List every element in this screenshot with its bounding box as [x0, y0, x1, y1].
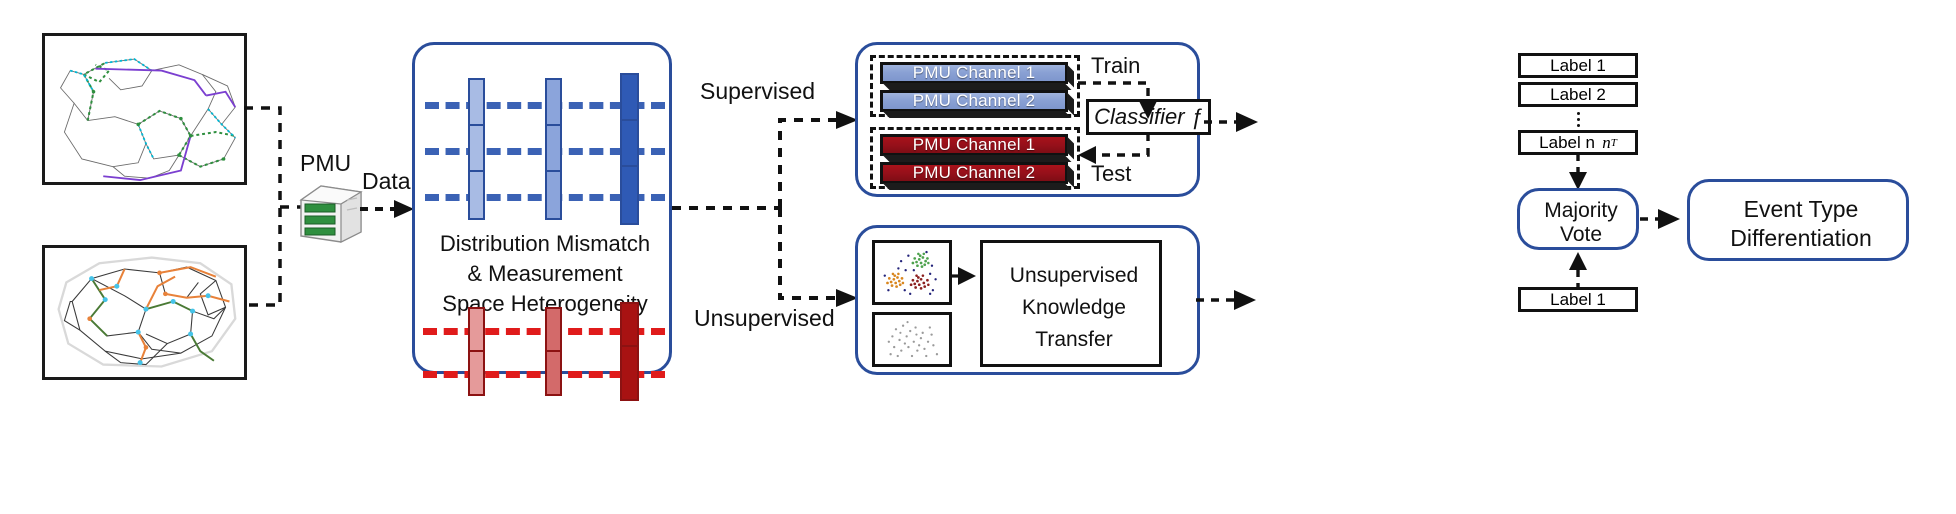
mismatch-tick: [545, 350, 562, 396]
majority-vote-line-1: Majority: [1520, 198, 1642, 224]
pmu-label: PMU: [300, 150, 351, 177]
mismatch-tick: [468, 170, 485, 220]
mismatch-tick: [468, 78, 485, 128]
label-box-1: Label 1: [1518, 53, 1638, 78]
ukt-line-2: Knowledge: [983, 295, 1165, 321]
mismatch-tick: [620, 165, 639, 225]
label-ellipsis: [1518, 110, 1638, 128]
pmu-to-mismatch-arrow: [360, 197, 420, 221]
figure-canvas: PMU Data Distrib: [0, 0, 1956, 514]
majority-vote-box: Majority Vote: [1517, 188, 1639, 250]
pmu-device-icon: [295, 178, 367, 246]
event-type-line-2: Differentiation: [1690, 224, 1912, 253]
unclustered-scatter-plot: [872, 312, 952, 367]
label-n-superscript: T: [1611, 137, 1617, 149]
event-type-differentiation-box: Event Type Differentiation: [1687, 179, 1909, 261]
data-arrow-label: Data: [362, 168, 411, 195]
supervised-branch-label: Supervised: [700, 78, 815, 105]
event-type-line-1: Event Type: [1690, 195, 1912, 224]
mismatch-text-line-2: & Measurement: [415, 260, 675, 288]
mismatch-tick: [545, 78, 562, 128]
power-grid-network-topology-2: [42, 245, 247, 380]
mismatch-tick: [545, 170, 562, 220]
distribution-mismatch-box: Distribution Mismatch & Measurement Spac…: [412, 42, 672, 374]
train-pmu-channel-2[interactable]: PMU Channel 2: [880, 90, 1068, 112]
ukt-line-1: Unsupervised: [983, 263, 1165, 289]
train-pmu-channel-1[interactable]: PMU Channel 1: [880, 62, 1068, 84]
classifier-to-labels-arrow: [1204, 110, 1304, 134]
test-pmu-channel-1[interactable]: PMU Channel 1: [880, 134, 1068, 156]
classifier-box[interactable]: Classifier ƒ: [1086, 99, 1211, 135]
mismatch-branch-connector: [672, 100, 872, 320]
mismatch-tick: [545, 124, 562, 174]
unsupervised-to-label-arrow: [1196, 288, 1306, 312]
mismatch-tick: [545, 307, 562, 353]
mismatch-tick: [468, 124, 485, 174]
ukt-line-3: Transfer: [983, 327, 1165, 353]
unsup-label-to-majority-vote-arrow: [1566, 246, 1590, 290]
mismatch-tick: [468, 350, 485, 396]
test-label: Test: [1091, 161, 1131, 187]
label-box-2: Label 2: [1518, 82, 1638, 107]
scatter-to-transfer-arrow: [952, 264, 982, 288]
test-pmu-channel-2[interactable]: PMU Channel 2: [880, 162, 1068, 184]
clustered-scatter-plot: [872, 240, 952, 305]
label-n-text: Label n: [1539, 133, 1595, 153]
unsupervised-box: Unsupervised Knowledge Transfer: [855, 225, 1200, 375]
mismatch-tick: [620, 345, 639, 401]
mismatch-text-line-1: Distribution Mismatch: [415, 230, 675, 258]
mismatch-tick: [468, 307, 485, 353]
label-box-n: Label n nT: [1518, 130, 1638, 155]
power-grid-network-topology-1: [42, 33, 247, 185]
unsupervised-branch-label: Unsupervised: [694, 305, 835, 332]
supervised-box: PMU Channel 1 PMU Channel 2 PMU Channel …: [855, 42, 1200, 197]
train-label: Train: [1091, 53, 1140, 79]
unsupervised-knowledge-transfer-box: Unsupervised Knowledge Transfer: [980, 240, 1162, 367]
unsupervised-label-box: Label 1: [1518, 287, 1638, 312]
majority-vote-line-2: Vote: [1520, 222, 1642, 248]
